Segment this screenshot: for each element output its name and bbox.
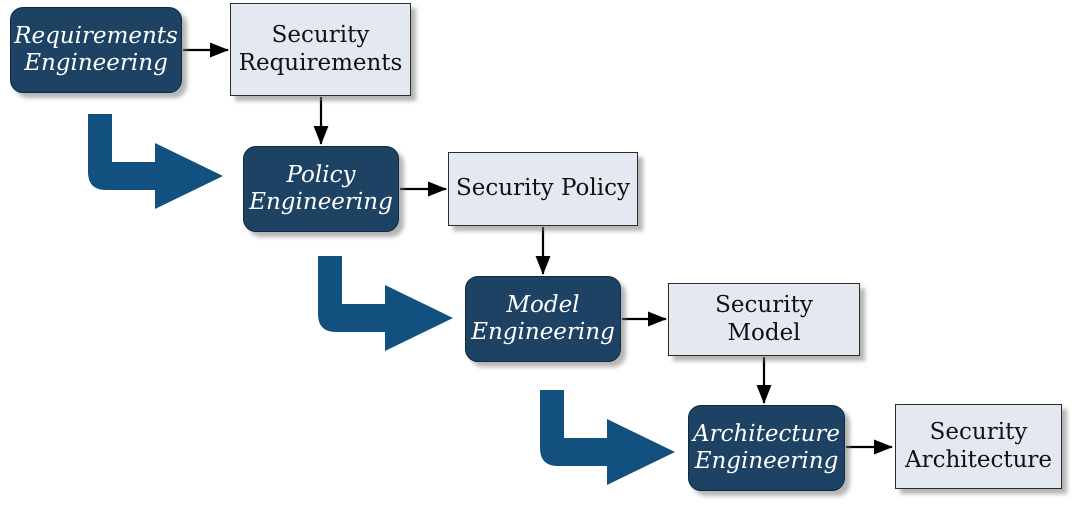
node-label: Policy Engineering xyxy=(243,162,399,216)
diagram-canvas: Requirements Engineering Security Requir… xyxy=(0,0,1075,505)
node-security-architecture[interactable]: Security Architecture xyxy=(895,404,1062,489)
node-label: Security Requirements xyxy=(233,22,409,76)
node-label: Security Policy xyxy=(450,175,636,202)
node-requirements-engineering[interactable]: Requirements Engineering xyxy=(10,7,182,93)
node-policy-engineering[interactable]: Policy Engineering xyxy=(243,146,399,232)
node-label: Requirements Engineering xyxy=(8,23,184,77)
node-security-policy[interactable]: Security Policy xyxy=(448,152,638,226)
node-security-requirements[interactable]: Security Requirements xyxy=(230,3,411,96)
node-security-model[interactable]: Security Model xyxy=(668,283,860,356)
node-label: Security Architecture xyxy=(899,419,1058,473)
node-model-engineering[interactable]: Model Engineering xyxy=(465,276,621,362)
node-label: Architecture Engineering xyxy=(687,421,846,475)
bent-arrow-policy-to-model xyxy=(318,256,453,351)
node-label: Model Engineering xyxy=(465,292,621,346)
node-architecture-engineering[interactable]: Architecture Engineering xyxy=(688,405,845,491)
bent-arrow-model-to-architecture xyxy=(540,390,675,485)
node-label: Security Model xyxy=(669,292,859,346)
bent-arrow-requirements-to-policy xyxy=(88,114,223,209)
